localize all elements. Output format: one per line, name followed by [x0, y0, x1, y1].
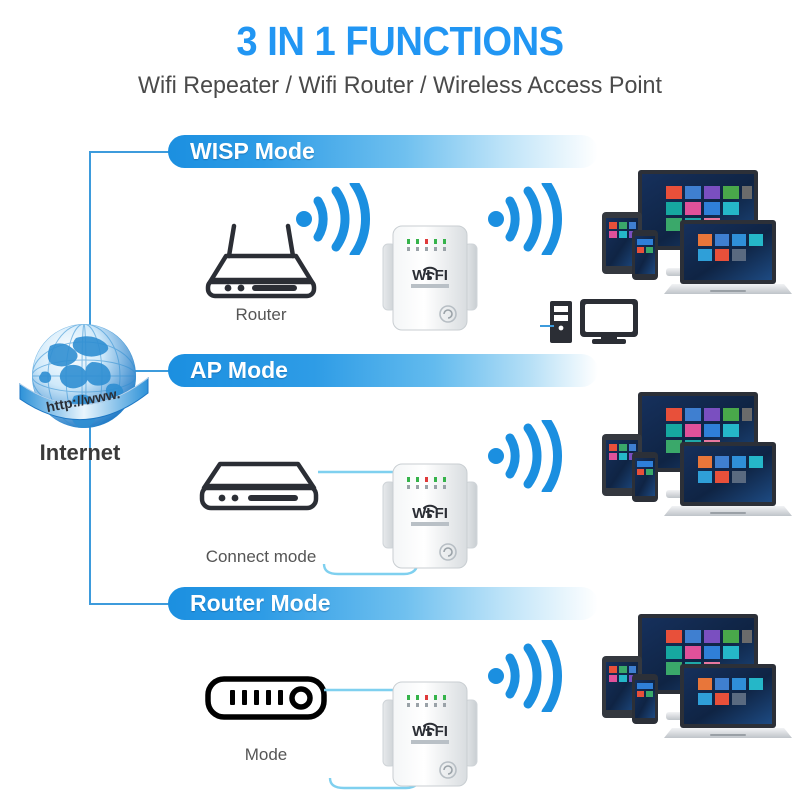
infographic-canvas: 3 IN 1 FUNCTIONS Wifi Repeater / Wifi Ro…	[0, 0, 800, 800]
modem-box-icon	[196, 458, 322, 519]
wisp-client-connector	[540, 325, 554, 327]
spine-stub-wisp	[89, 151, 171, 153]
wifi-router-label: Router	[196, 305, 326, 325]
wifi-signal-icon	[488, 420, 564, 497]
modem-box-label: Connect mode	[186, 547, 336, 567]
page-subtitle: Wifi Repeater / Wifi Router / Wireless A…	[12, 72, 788, 100]
spine-stub-router	[89, 603, 171, 605]
mode-banner-ap[interactable]: AP Mode	[168, 354, 598, 387]
broadband-modem-icon	[205, 676, 327, 725]
broadband-modem-label: Mode	[205, 745, 327, 765]
internet-label: Internet	[0, 440, 160, 466]
repeater-brand-text: WI FI	[412, 505, 448, 522]
wifi-signal-icon	[296, 183, 372, 260]
wifi-repeater-icon: WI FI	[378, 222, 482, 339]
page-title: 3 IN 1 FUNCTIONS	[28, 18, 772, 65]
mode-banner-ap-label: AP Mode	[190, 357, 288, 384]
desktop-pc-icon	[548, 297, 640, 350]
wifi-repeater-icon: WI FI	[378, 460, 482, 577]
globe-icon: http://www.	[14, 310, 154, 450]
wifi-signal-icon	[488, 640, 564, 717]
wifi-signal-icon	[488, 183, 564, 260]
repeater-brand-text: WI FI	[412, 723, 448, 740]
wifi-repeater-icon: WI FI	[378, 678, 482, 795]
mode-banner-wisp-label: WISP Mode	[190, 138, 315, 165]
multi-device-cluster-icon	[598, 612, 794, 769]
mode-banner-router[interactable]: Router Mode	[168, 587, 598, 620]
mode-banner-wisp[interactable]: WISP Mode	[168, 135, 598, 168]
repeater-brand-text: WI FI	[412, 267, 448, 284]
mode-banner-router-label: Router Mode	[190, 590, 331, 617]
multi-device-cluster-icon	[598, 390, 794, 547]
